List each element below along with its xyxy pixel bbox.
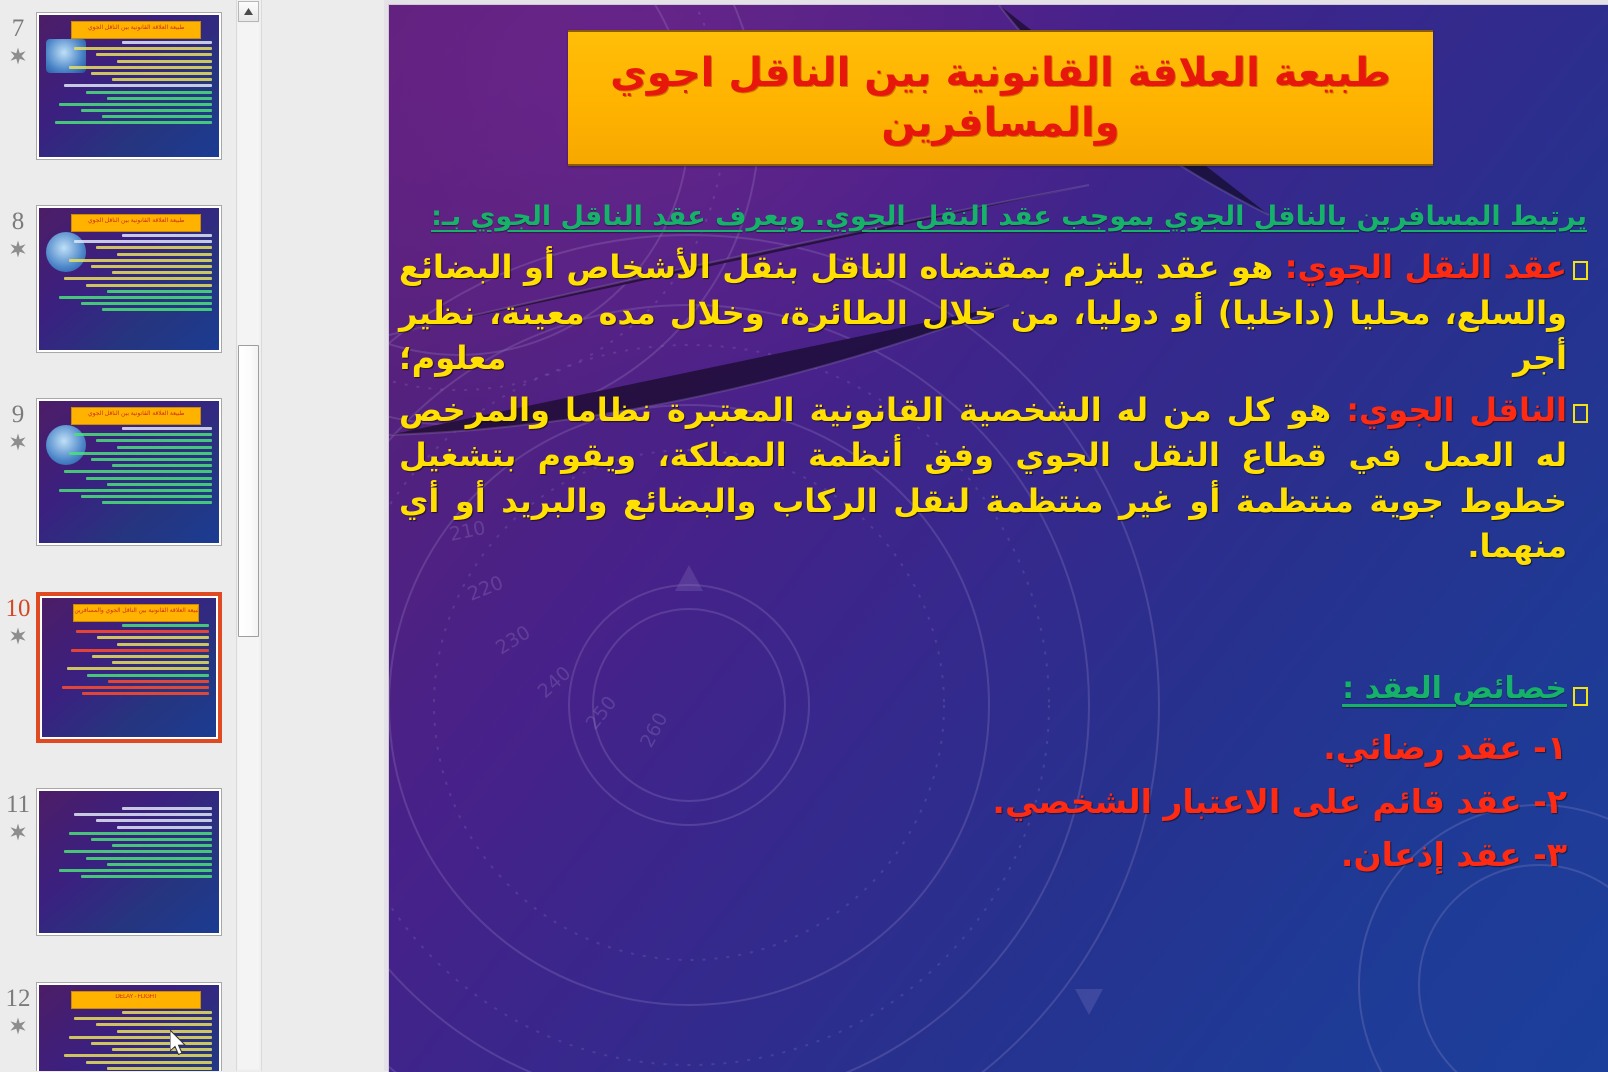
thumbnail-frame[interactable]: طبيعة العلاقة القانونية بين الناقل الجوي	[36, 12, 222, 160]
thumbnail-preview	[39, 791, 219, 933]
thumbnail-preview: طبيعة العلاقة القانونية بين الناقل الجوي	[39, 15, 219, 157]
thumbnail-text-lines	[48, 427, 212, 507]
thumbnail-preview: طبيعة العلاقة القانونية بين الناقل الجوي	[39, 208, 219, 350]
slide-number-label: 12	[6, 986, 31, 1012]
body-spacer	[399, 575, 1593, 671]
slide-thumbnail-8[interactable]: 8طبيعة العلاقة القانونية بين الناقل الجو…	[0, 205, 236, 353]
thumbnail-preview: طبيعة العلاقة القانونية بين الناقل الجوي	[39, 401, 219, 543]
slide-number-label: 8	[12, 209, 25, 235]
thumbnail-title-bar: DELAY - FLIGHT	[71, 991, 201, 1009]
thumbnail-frame[interactable]: DELAY - FLIGHT	[36, 982, 222, 1071]
thumbnail-gutter: 7	[0, 12, 36, 66]
thumbnail-text-lines	[48, 807, 212, 881]
slide-body[interactable]: يرتبط المسافرين بالناقل الجوي بموجب عقد …	[399, 201, 1593, 888]
slide-thumbnail-11[interactable]: 11	[0, 788, 236, 936]
thumbnail-frame[interactable]: طبيعة العلاقة القانونية بين الناقل الجوي…	[36, 592, 222, 743]
thumbnail-gutter: 8	[0, 205, 36, 259]
scroll-up-arrow-icon[interactable]	[238, 1, 259, 22]
slide-title-text: طبيعة العلاقة القانونية بين الناقل اجوي …	[582, 48, 1419, 148]
powerpoint-window: 7طبيعة العلاقة القانونية بين الناقل الجو…	[0, 0, 1608, 1071]
slide-title-box[interactable]: طبيعة العلاقة القانونية بين الناقل اجوي …	[568, 30, 1433, 166]
bullet-item-carrier-definition[interactable]: الناقل الجوي: هو كل من له الشخصية القانو…	[399, 388, 1593, 570]
thumbnail-title-text: طبيعة العلاقة القانونية بين الناقل الجوي	[72, 24, 200, 31]
slide-thumbnail-7[interactable]: 7طبيعة العلاقة القانونية بين الناقل الجو…	[0, 12, 236, 160]
thumbnail-title-text: DELAY - FLIGHT	[72, 994, 200, 1000]
thumbnail-text-lines	[48, 1011, 212, 1071]
thumbnail-title-text: طبيعة العلاقة القانونية بين الناقل الجوي	[72, 410, 200, 417]
bullet-item-contract-definition[interactable]: عقد النقل الجوي: هو عقد يلتزم بمقتضاه ال…	[399, 245, 1593, 381]
slide-editing-area[interactable]: 260 250 240 230 220 210 طبيعة العلاقة ال…	[384, 0, 1608, 1071]
thumbnail-title-bar: طبيعة العلاقة القانونية بين الناقل الجوي	[71, 214, 201, 232]
thumbnail-text-lines	[48, 234, 212, 314]
square-bullet-icon	[1567, 687, 1593, 706]
slide-thumbnail-10[interactable]: 10طبيعة العلاقة القانونية بين الناقل الج…	[0, 592, 236, 743]
thumbnail-frame[interactable]: طبيعة العلاقة القانونية بين الناقل الجوي	[36, 205, 222, 353]
animation-star-icon	[8, 822, 28, 842]
slide-intro-heading: يرتبط المسافرين بالناقل الجوي بموجب عقد …	[399, 201, 1587, 233]
feature-list-item: ٣- عقد إذعان.	[399, 828, 1567, 881]
feature-list-item: ١- عقد رضائي.	[399, 721, 1567, 774]
bullet-paragraph: عقد النقل الجوي: هو عقد يلتزم بمقتضاه ال…	[399, 245, 1567, 381]
slide-thumbnail-12[interactable]: 12DELAY - FLIGHT	[0, 982, 236, 1071]
thumbnail-preview: DELAY - FLIGHT	[39, 985, 219, 1071]
bullet-paragraph: الناقل الجوي: هو كل من له الشخصية القانو…	[399, 388, 1567, 570]
thumbnail-text-lines	[48, 41, 212, 128]
thumbnail-title-text: طبيعة العلاقة القانونية بين الناقل الجوي	[72, 217, 200, 224]
animation-star-icon	[8, 626, 28, 646]
slide-canvas[interactable]: 260 250 240 230 220 210 طبيعة العلاقة ال…	[388, 4, 1608, 1072]
thumbnail-gutter: 9	[0, 398, 36, 452]
thumbnail-gutter: 12	[0, 982, 36, 1036]
thumbnail-text-lines	[51, 624, 209, 698]
thumbnail-title-bar: طبيعة العلاقة القانونية بين الناقل الجوي	[71, 407, 201, 425]
thumbnail-pane-scrollbar[interactable]	[236, 0, 262, 1071]
thumbnail-title-text: طبيعة العلاقة القانونية بين الناقل الجوي…	[74, 607, 197, 614]
animation-star-icon	[8, 432, 28, 452]
slide-thumbnail-9[interactable]: 9طبيعة العلاقة القانونية بين الناقل الجو…	[0, 398, 236, 546]
features-list: ١- عقد رضائي.٢- عقد قائم على الاعتبار ال…	[399, 721, 1567, 881]
scrollbar-thumb[interactable]	[238, 345, 259, 637]
square-bullet-icon	[1567, 404, 1593, 423]
bullet-item-contract-features[interactable]: خصائص العقد : ١- عقد رضائي.٢- عقد قائم ع…	[399, 671, 1593, 881]
square-bullet-icon	[1567, 261, 1593, 280]
thumbnail-gutter: 11	[0, 788, 36, 842]
features-heading: خصائص العقد :	[399, 671, 1567, 707]
thumbnail-gutter: 10	[0, 592, 36, 646]
bullet-lead-term: الناقل الجوي:	[1346, 391, 1567, 429]
slide-number-label: 9	[12, 402, 25, 428]
animation-star-icon	[8, 239, 28, 259]
slide-number-label: 11	[6, 792, 30, 818]
animation-star-icon	[8, 46, 28, 66]
thumbnail-frame[interactable]: طبيعة العلاقة القانونية بين الناقل الجوي	[36, 398, 222, 546]
bullet-lead-term: عقد النقل الجوي:	[1285, 248, 1567, 286]
thumbnail-frame[interactable]	[36, 788, 222, 936]
thumbnail-preview: طبيعة العلاقة القانونية بين الناقل الجوي…	[42, 598, 216, 737]
feature-list-item: ٢- عقد قائم على الاعتبار الشخصي.	[399, 775, 1567, 828]
slide-number-label: 7	[12, 16, 25, 42]
slide-number-label: 10	[6, 596, 31, 622]
slide-thumbnail-pane[interactable]: 7طبيعة العلاقة القانونية بين الناقل الجو…	[0, 0, 236, 1071]
animation-star-icon	[8, 1016, 28, 1036]
thumbnail-title-bar: طبيعة العلاقة القانونية بين الناقل الجوي…	[73, 604, 198, 622]
thumbnail-title-bar: طبيعة العلاقة القانونية بين الناقل الجوي	[71, 21, 201, 39]
